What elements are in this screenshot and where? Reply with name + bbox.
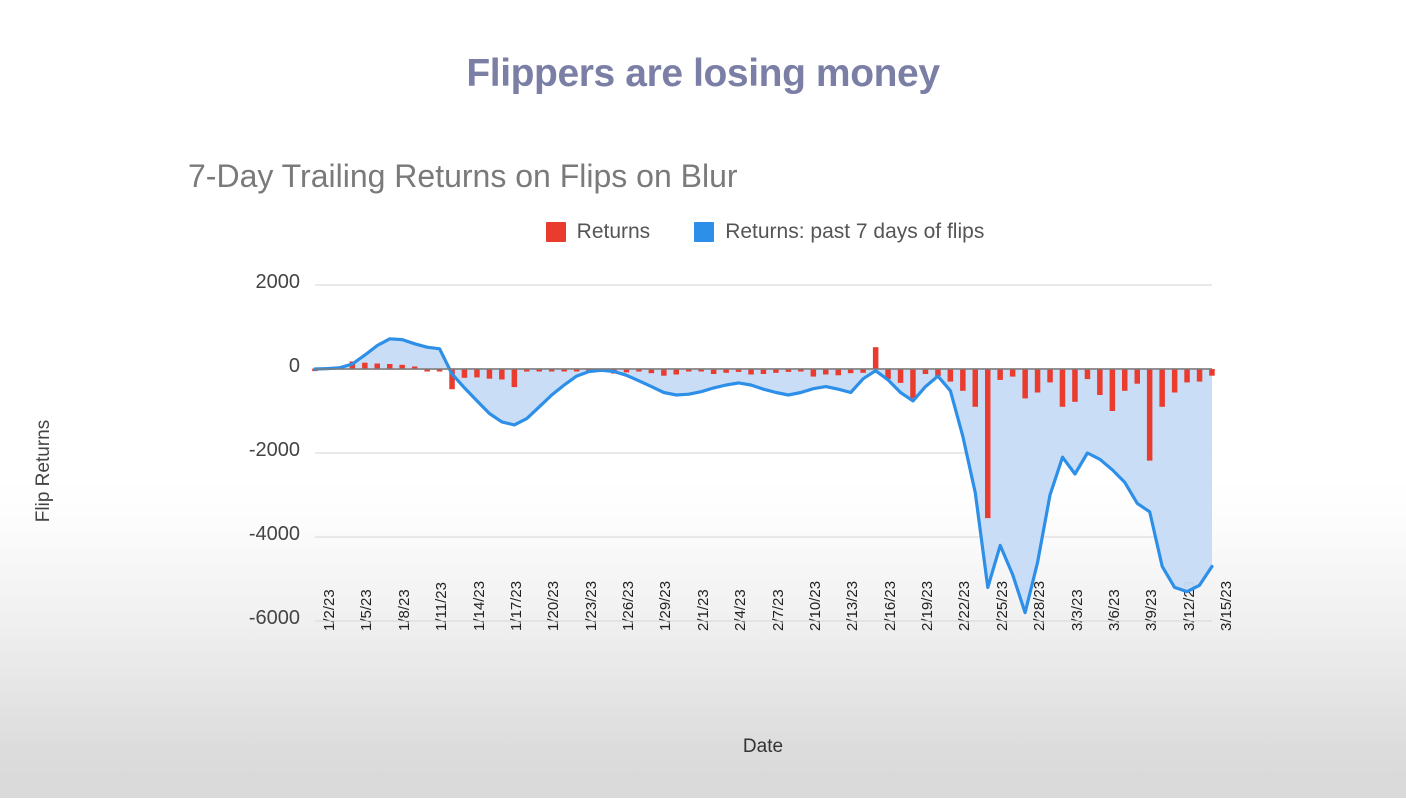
bar xyxy=(674,369,680,375)
chart-plot-area xyxy=(0,140,1406,800)
bar xyxy=(960,369,966,391)
bar xyxy=(462,369,468,378)
bar xyxy=(985,369,991,518)
bar xyxy=(1159,369,1165,407)
bar xyxy=(1172,369,1178,393)
bar xyxy=(873,347,879,369)
bar xyxy=(512,369,517,387)
bar xyxy=(973,369,979,407)
bar xyxy=(1147,369,1153,461)
bar xyxy=(836,369,842,375)
bar xyxy=(1122,369,1128,391)
bar xyxy=(1110,369,1116,411)
bar xyxy=(474,369,480,377)
bar xyxy=(761,369,767,374)
bar xyxy=(1209,369,1215,376)
bar xyxy=(362,363,368,369)
bar xyxy=(375,364,381,370)
bar xyxy=(1197,369,1203,382)
bar xyxy=(1135,369,1141,384)
bar xyxy=(898,369,904,383)
bar xyxy=(711,369,717,374)
bar xyxy=(1072,369,1078,402)
bar xyxy=(1097,369,1103,395)
bar xyxy=(823,369,829,375)
bar xyxy=(1047,369,1053,382)
bar xyxy=(948,369,954,382)
bar xyxy=(1010,369,1016,377)
bar xyxy=(1022,369,1028,398)
bar xyxy=(661,369,667,376)
bar xyxy=(487,369,493,379)
bar xyxy=(997,369,1003,380)
slide-title: Flippers are losing money xyxy=(0,52,1406,96)
bar xyxy=(811,369,817,377)
bar xyxy=(387,364,393,369)
chart-container: 7-Day Trailing Returns on Flips on Blur … xyxy=(0,140,1406,800)
bar xyxy=(923,369,929,374)
bar xyxy=(748,369,754,375)
bar xyxy=(1060,369,1066,407)
bar xyxy=(910,369,916,398)
bar xyxy=(499,369,505,380)
bar xyxy=(1184,369,1190,382)
bar xyxy=(1035,369,1041,393)
bar xyxy=(1085,369,1091,379)
